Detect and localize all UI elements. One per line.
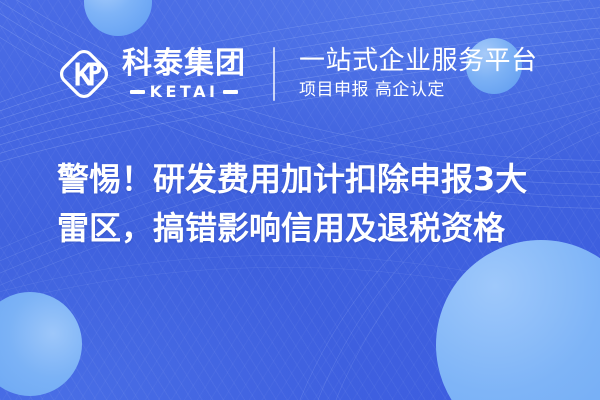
headline-text: 警惕！研发费用加计扣除申报3大雷区，搞错影响信用及退税资格 bbox=[57, 155, 549, 252]
header-divider bbox=[273, 47, 275, 101]
brand-name-en-row: KETAI bbox=[122, 84, 246, 100]
brand-rule-right bbox=[223, 90, 238, 94]
promo-banner: 科泰集团 KETAI 一站式企业服务平台 项目申报 高企认定 警惕！研发费用加计… bbox=[0, 0, 600, 400]
ketai-kp-diamond-logo-icon bbox=[55, 45, 113, 103]
decor-orb-bottom-right bbox=[436, 240, 600, 400]
brand-rule-left bbox=[130, 90, 145, 94]
brand-name-en: KETAI bbox=[150, 84, 219, 100]
decor-orb-bottom-left bbox=[0, 292, 82, 396]
decor-orb-top-left bbox=[84, 0, 152, 36]
brand-logo[interactable]: 科泰集团 KETAI bbox=[55, 45, 246, 103]
brand-name-cn: 科泰集团 bbox=[122, 49, 246, 79]
tagline-primary: 一站式企业服务平台 bbox=[299, 47, 538, 76]
tagline-block: 一站式企业服务平台 项目申报 高企认定 bbox=[299, 47, 538, 101]
brand-wordmark: 科泰集团 KETAI bbox=[122, 49, 246, 100]
banner-header: 科泰集团 KETAI 一站式企业服务平台 项目申报 高企认定 bbox=[0, 38, 600, 110]
tagline-secondary: 项目申报 高企认定 bbox=[299, 80, 538, 100]
